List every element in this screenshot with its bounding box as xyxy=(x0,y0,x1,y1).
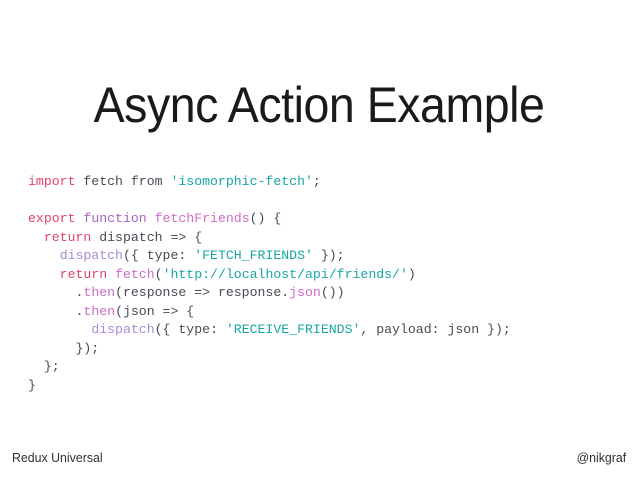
code-token-fn: fetch xyxy=(115,267,155,282)
code-token-kw: return xyxy=(60,267,107,282)
code-token-fn: then xyxy=(83,304,115,319)
code-token-plain xyxy=(147,211,155,226)
code-token-str: 'RECEIVE_FRIENDS' xyxy=(226,322,361,337)
code-line: }; xyxy=(28,358,628,377)
code-token-kw: export xyxy=(28,211,75,226)
code-token-plain xyxy=(28,230,44,245)
code-line: return fetch('http://localhost/api/frien… xyxy=(28,266,628,285)
code-line: dispatch({ type: 'RECEIVE_FRIENDS', payl… xyxy=(28,321,628,340)
code-token-plain: ; xyxy=(313,174,321,189)
code-token-plain xyxy=(107,267,115,282)
code-token-fn: json xyxy=(289,285,321,300)
code-token-plain xyxy=(28,248,60,263)
code-token-plain: . xyxy=(28,285,83,300)
code-line: } xyxy=(28,377,628,396)
code-token-str: 'http://localhost/api/friends/' xyxy=(163,267,408,282)
code-token-plain: () { xyxy=(250,211,282,226)
code-token-plain: (json => { xyxy=(115,304,194,319)
code-token-plain: dispatch => { xyxy=(91,230,202,245)
code-line: .then(response => response.json()) xyxy=(28,284,628,303)
code-line: import fetch from 'isomorphic-fetch'; xyxy=(28,173,628,192)
code-token-plain xyxy=(28,267,60,282)
code-token-plain: }; xyxy=(28,359,60,374)
slide-footer: Redux Universal @nikgraf xyxy=(0,435,638,479)
code-token-plain: ) xyxy=(408,267,416,282)
code-line: dispatch({ type: 'FETCH_FRIENDS' }); xyxy=(28,247,628,266)
code-line: }); xyxy=(28,340,628,359)
code-snippet: import fetch from 'isomorphic-fetch'; ex… xyxy=(28,173,628,395)
footer-author-handle: @nikgraf xyxy=(576,450,626,465)
code-token-fn: then xyxy=(83,285,115,300)
code-token-plain: ({ type: xyxy=(155,322,226,337)
code-token-ident: dispatch xyxy=(91,322,154,337)
slide: Async Action Example import fetch from '… xyxy=(0,0,638,479)
code-token-plain: fetch from xyxy=(75,174,170,189)
code-token-str: 'FETCH_FRIENDS' xyxy=(194,248,313,263)
code-line: export function fetchFriends() { xyxy=(28,210,628,229)
code-line: return dispatch => { xyxy=(28,229,628,248)
code-token-decl: function xyxy=(83,211,146,226)
code-token-plain: , payload: json }); xyxy=(360,322,510,337)
page-title: Async Action Example xyxy=(22,79,615,132)
code-token-ident: dispatch xyxy=(60,248,123,263)
code-token-kw: import xyxy=(28,174,75,189)
code-token-fn: fetchFriends xyxy=(155,211,250,226)
footer-deck-name: Redux Universal xyxy=(12,450,103,465)
code-token-plain: }); xyxy=(28,341,99,356)
code-token-plain: (response => response. xyxy=(115,285,289,300)
code-token-plain: . xyxy=(28,304,83,319)
code-token-plain: }); xyxy=(313,248,345,263)
code-line: .then(json => { xyxy=(28,303,628,322)
code-token-kw: return xyxy=(44,230,91,245)
code-token-plain: } xyxy=(28,378,36,393)
code-token-plain: ({ type: xyxy=(123,248,194,263)
code-token-str: 'isomorphic-fetch' xyxy=(170,174,312,189)
code-token-plain: ( xyxy=(155,267,163,282)
code-token-plain: ()) xyxy=(321,285,345,300)
code-line xyxy=(28,192,628,211)
code-token-plain xyxy=(28,322,91,337)
